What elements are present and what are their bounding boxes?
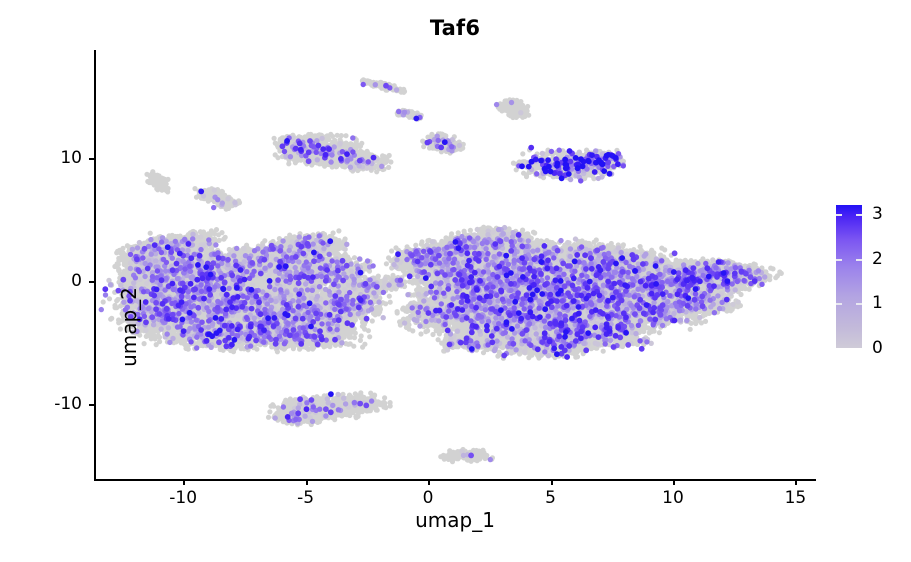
x-tick-label: 15 <box>785 488 807 508</box>
umap-feature-plot: Taf6 -10-5051015 100-10 umap_2 umap_1 32… <box>0 0 911 562</box>
y-tick-label: 0 <box>71 271 82 291</box>
x-tick <box>673 480 675 485</box>
colorbar-tick <box>836 214 842 216</box>
y-axis-label: umap_2 <box>117 247 141 407</box>
x-tick-label: -10 <box>169 488 197 508</box>
x-tick-label: -5 <box>297 488 314 508</box>
x-tick <box>551 480 553 485</box>
plot-axes: -10-5051015 100-10 umap_2 <box>95 50 815 480</box>
x-tick-label: 0 <box>423 488 434 508</box>
x-tick <box>428 480 430 485</box>
colorbar-tick <box>836 303 842 305</box>
y-tick <box>89 158 95 160</box>
scatter-point-cloud <box>95 50 815 480</box>
x-tick <box>795 480 797 485</box>
y-tick <box>89 404 95 406</box>
y-tick-label: -10 <box>54 394 82 414</box>
page-title: Taf6 <box>45 16 865 40</box>
y-tick-label: 10 <box>60 148 82 168</box>
x-tick <box>183 480 185 485</box>
colorbar-tick <box>856 259 862 261</box>
colorbar-tick <box>856 214 862 216</box>
colorbar-tick-label: 0 <box>872 338 883 358</box>
x-tick <box>306 480 308 485</box>
y-tick <box>89 281 95 283</box>
colorbar-tick-label: 2 <box>872 249 883 269</box>
colorbar-tick-label: 1 <box>872 293 883 313</box>
colorbar-tick <box>836 259 842 261</box>
colorbar-gradient <box>836 205 862 348</box>
colorbar-tick-label: 3 <box>872 204 883 224</box>
x-axis-label: umap_1 <box>95 508 815 532</box>
x-tick-label: 5 <box>545 488 556 508</box>
x-tick-label: 10 <box>662 488 684 508</box>
colorbar-tick <box>856 303 862 305</box>
